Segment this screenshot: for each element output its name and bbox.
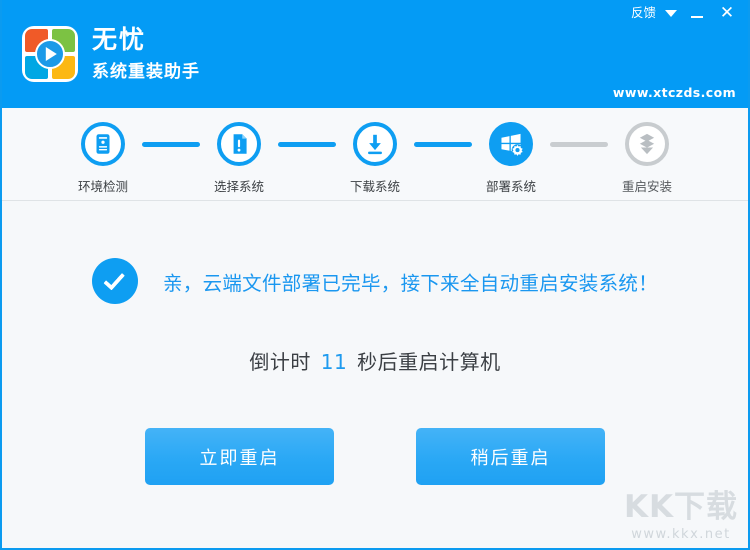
countdown-seconds: 11 [318,350,350,374]
status-message: 亲，云端文件部署已完毕，接下来全自动重启安装系统！ [163,267,658,296]
step-5-label: 重启安装 [622,176,672,195]
progress-stepper: 环境检测 选择系统 [2,122,748,195]
minimize-icon [691,16,703,18]
check-circle-icon [92,258,138,304]
progress-stepper-area: 环境检测 选择系统 [2,108,748,201]
countdown-text: 倒计时 11 秒后重启计算机 [2,346,748,375]
step-5-circle [625,122,669,166]
watermark-title: KK下载 [624,492,738,523]
restart-now-button[interactable]: 立即重启 [145,428,334,485]
step-1-label: 环境检测 [78,176,128,195]
step-select-system[interactable]: 选择系统 [200,122,278,195]
step-2-label: 选择系统 [214,176,264,195]
document-alert-icon [226,131,252,157]
brand-subtitle: 系统重装助手 [92,57,200,82]
feedback-label: 反馈 [631,7,656,20]
brand-text: 无忧 系统重装助手 [92,26,200,82]
step-deploy-system[interactable]: 部署系统 [472,122,550,195]
logo-play-circle [35,39,65,69]
action-buttons: 立即重启 稍后重启 [2,428,748,485]
step-connector-3 [414,142,472,147]
app-header: 反馈 ✕ 无忧 系统重装 [0,0,750,108]
close-button[interactable]: ✕ [712,0,742,26]
feedback-button[interactable]: 反馈 [623,0,660,26]
logo-icon [22,26,78,82]
step-1-circle [81,122,125,166]
step-3-label: 下载系统 [350,176,400,195]
minimize-button[interactable] [682,0,712,26]
countdown-prefix: 倒计时 [249,350,311,374]
step-connector-2 [278,142,336,147]
restart-later-button[interactable]: 稍后重启 [416,428,605,485]
close-icon: ✕ [720,5,734,22]
install-package-icon [634,131,660,157]
countdown-suffix: 秒后重启计算机 [357,350,501,374]
step-3-circle [353,122,397,166]
watermark-url: www.kkx.net [624,527,738,542]
check-glyph [103,268,125,290]
brand-logo: 无忧 系统重装助手 [22,26,200,82]
step-environment-check[interactable]: 环境检测 [64,122,142,195]
step-4-circle [489,122,533,166]
step-restart-install[interactable]: 重启安装 [608,122,686,195]
title-bar: 反馈 ✕ [623,0,750,26]
chevron-down-icon[interactable] [660,0,682,26]
chevron-down-glyph [665,10,677,17]
step-connector-1 [142,142,200,147]
step-connector-4 [550,142,608,147]
step-2-circle [217,122,261,166]
step-4-label: 部署系统 [486,176,536,195]
play-icon [46,47,57,61]
windows-gear-icon [498,131,524,157]
main-content: 亲，云端文件部署已完毕，接下来全自动重启安装系统！ 倒计时 11 秒后重启计算机… [2,201,748,548]
status-row: 亲，云端文件部署已完毕，接下来全自动重启安装系统！ [2,258,748,304]
site-url: www.xtczds.com [613,85,736,100]
download-arrow-icon [362,131,388,157]
app-window: 反馈 ✕ 无忧 系统重装 [0,0,750,550]
computer-tower-icon [90,131,116,157]
watermark: KK下载 www.kkx.net [624,492,738,542]
step-download-system[interactable]: 下载系统 [336,122,414,195]
brand-name: 无忧 [92,26,200,54]
